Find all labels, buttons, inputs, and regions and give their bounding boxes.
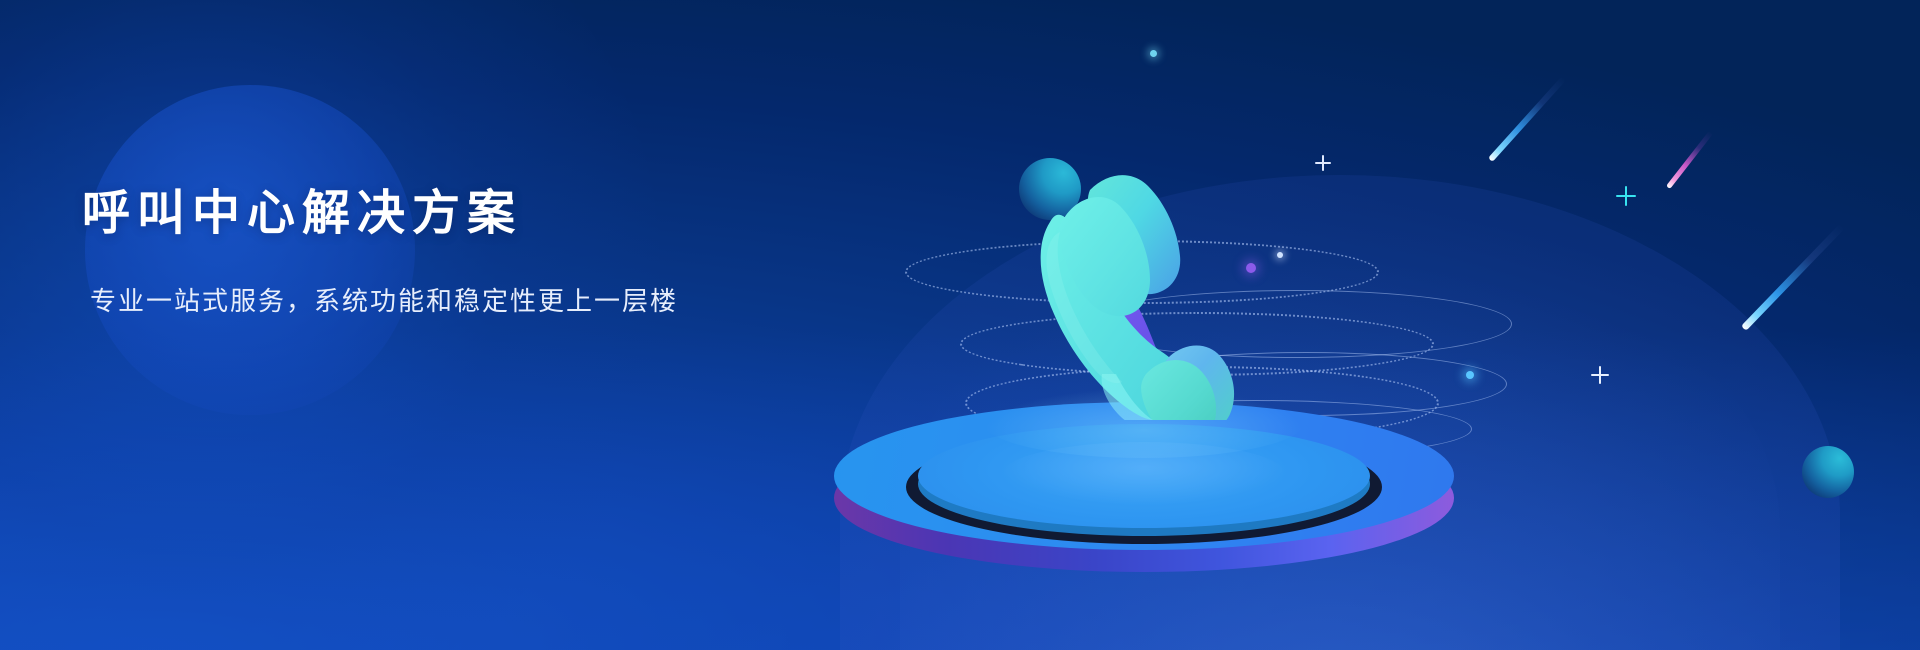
banner-text-block: 呼叫中心解决方案 专业一站式服务，系统功能和稳定性更上一层楼 <box>82 186 902 319</box>
page-title: 呼叫中心解决方案 <box>82 186 902 243</box>
glow-dot <box>1466 371 1474 379</box>
glow-dot <box>1150 50 1157 57</box>
glow-dot <box>1277 252 1283 258</box>
stage-platform <box>834 402 1454 650</box>
teal-sphere-icon <box>1802 446 1854 498</box>
page-subtitle: 专业一站式服务，系统功能和稳定性更上一层楼 <box>90 283 902 319</box>
plus-sparkle-icon <box>1315 155 1331 171</box>
hero-banner: 呼叫中心解决方案 专业一站式服务，系统功能和稳定性更上一层楼 <box>0 0 1920 650</box>
plus-sparkle-icon <box>1591 366 1609 384</box>
plus-sparkle-icon <box>1616 186 1636 206</box>
phone-handset-icon <box>1020 160 1270 420</box>
